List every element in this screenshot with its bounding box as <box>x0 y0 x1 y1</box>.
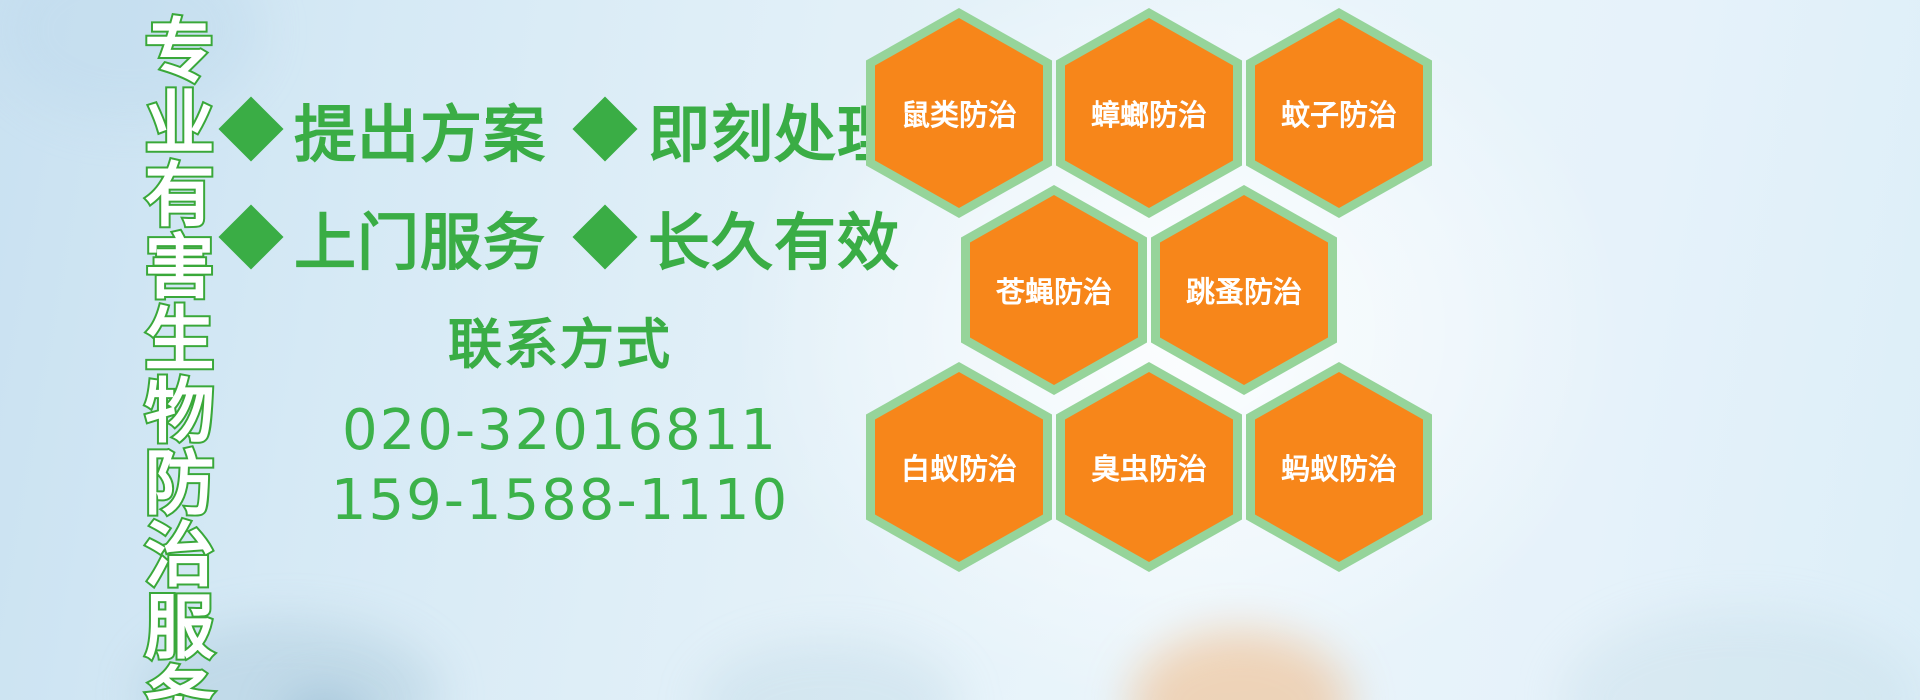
service-label: 跳蚤防治 <box>1186 269 1302 311</box>
promo-banner: 专业有害生物防治服务 提出方案 即刻处理 上门服务 长久有效 联系方式 020-… <box>0 0 1920 700</box>
service-label: 鼠类防治 <box>901 92 1017 134</box>
service-label: 苍蝇防治 <box>996 269 1112 311</box>
service-label: 白蚁防治 <box>901 446 1017 488</box>
phone-number-landline[interactable]: 020-32016811 <box>300 396 820 466</box>
diamond-icon <box>218 96 283 161</box>
diamond-icon <box>218 204 283 269</box>
feature-row: 上门服务 长久有效 <box>228 192 900 282</box>
contact-block: 联系方式 020-32016811 159-1588-1110 <box>300 318 820 536</box>
service-label: 蚂蚁防治 <box>1281 446 1397 488</box>
vertical-headline: 专业有害生物防治服务 <box>104 14 212 654</box>
phone-number-mobile[interactable]: 159-1588-1110 <box>300 466 820 536</box>
background-blur-blob <box>280 688 370 700</box>
background-blur-blob <box>1560 610 1920 700</box>
service-label: 臭虫防治 <box>1091 446 1207 488</box>
service-hexagon-rodent[interactable]: 鼠类防治 <box>866 8 1052 218</box>
service-hexagon-termite[interactable]: 白蚁防治 <box>866 362 1052 572</box>
background-blur-blob <box>700 640 960 700</box>
contact-heading: 联系方式 <box>300 318 820 372</box>
service-hex-grid: 鼠类防治 蟑螂防治 蚊子防治 苍蝇防治 跳蚤防治 白蚁防治 臭虫防治 蚂蚁 <box>862 0 1462 580</box>
service-label: 蟑螂防治 <box>1091 92 1207 134</box>
diamond-icon <box>572 204 637 269</box>
diamond-icon <box>572 96 637 161</box>
service-hexagon-bedbug[interactable]: 臭虫防治 <box>1056 362 1242 572</box>
service-hexagon-cockroach[interactable]: 蟑螂防治 <box>1056 8 1242 218</box>
service-hexagon-fly[interactable]: 苍蝇防治 <box>961 185 1147 395</box>
service-hexagon-flea[interactable]: 跳蚤防治 <box>1151 185 1337 395</box>
feature-label: 上门服务 <box>294 192 546 282</box>
background-blur-blob <box>1130 630 1350 700</box>
feature-label: 提出方案 <box>294 84 546 174</box>
feature-row: 提出方案 即刻处理 <box>228 84 900 174</box>
service-hexagon-mosquito[interactable]: 蚊子防治 <box>1246 8 1432 218</box>
service-label: 蚊子防治 <box>1281 92 1397 134</box>
service-hexagon-ant[interactable]: 蚂蚁防治 <box>1246 362 1432 572</box>
